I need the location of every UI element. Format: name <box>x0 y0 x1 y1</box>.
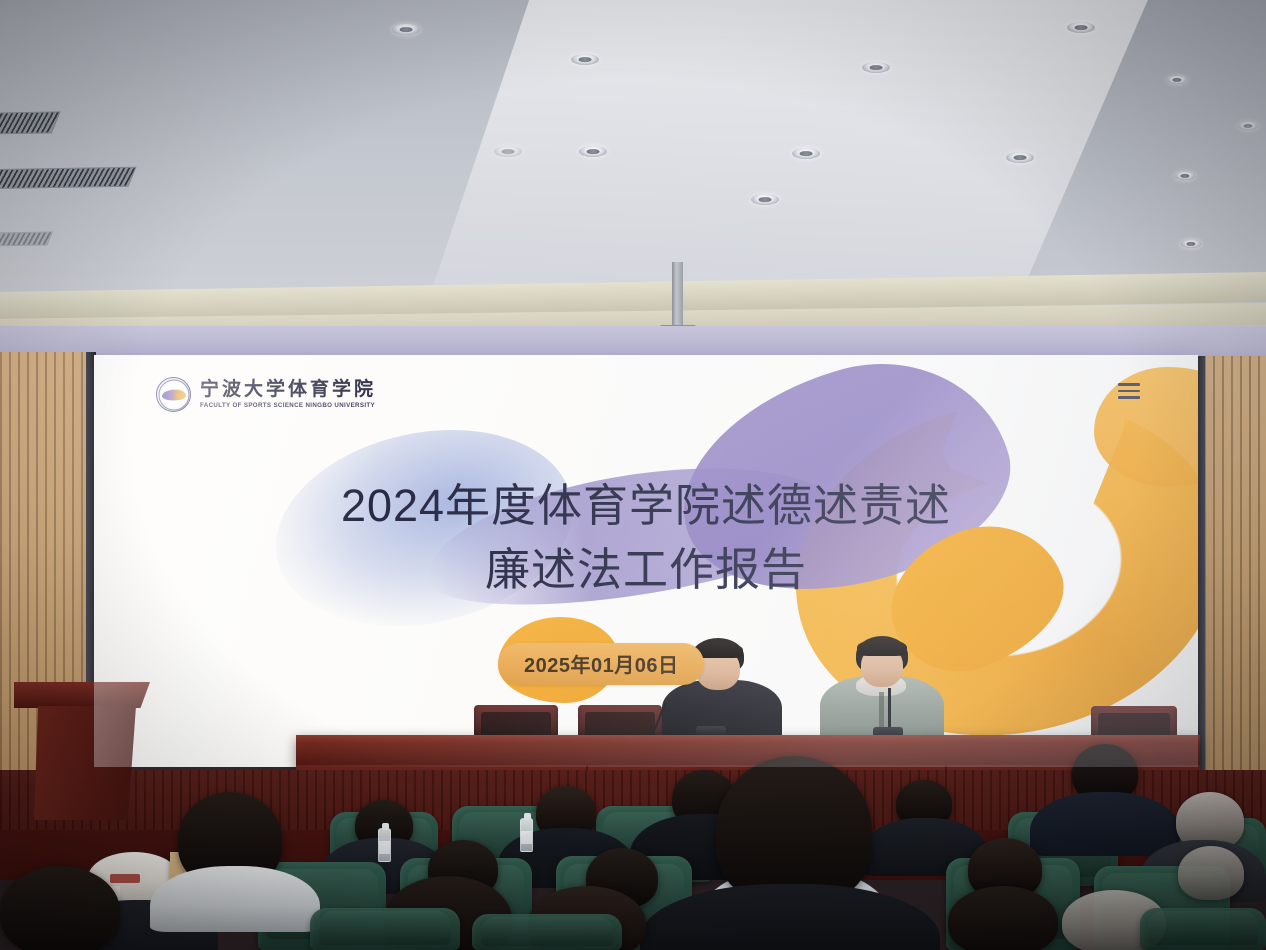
audience-shoulder <box>1030 792 1180 856</box>
slide-title-line1: 2024年度体育学院述德述责述 <box>154 475 1138 537</box>
water-bottle <box>378 828 391 862</box>
slide-title-line2: 廉述法工作报告 <box>154 539 1138 601</box>
cap-logo <box>110 874 140 883</box>
university-seal-icon <box>156 377 191 412</box>
slide-title: 2024年度体育学院述德述责述 廉述法工作报告 <box>94 475 1198 601</box>
logo-name-en: FACULTY OF SPORTS SCIENCE NINGBO UNIVERS… <box>200 402 376 409</box>
water-bottle <box>520 818 533 852</box>
projector-mount-pole <box>672 262 683 330</box>
stage-chair <box>578 705 662 739</box>
logo-name-cn: 宁波大学体育学院 <box>200 380 376 400</box>
conference-hall-scene: 宁波大学体育学院 FACULTY OF SPORTS SCIENCE NINGB… <box>0 0 1266 950</box>
ceiling-downlight <box>792 148 820 159</box>
audience-head-gray <box>1178 846 1244 900</box>
audience-head-foreground <box>0 866 120 950</box>
ceiling-downlight <box>571 54 599 65</box>
ceiling-downlight <box>579 146 607 157</box>
ac-vent <box>0 111 61 134</box>
hamburger-bar <box>1118 383 1140 386</box>
ceiling-downlight <box>862 62 890 73</box>
audience-seat <box>472 914 622 950</box>
ac-vent <box>0 167 137 190</box>
lectern-top <box>14 682 150 708</box>
ceiling-downlight <box>1067 22 1095 33</box>
slide-logo: 宁波大学体育学院 FACULTY OF SPORTS SCIENCE NINGB… <box>156 377 376 412</box>
audience-seat <box>310 908 460 950</box>
audience-head-foreground <box>948 886 1058 950</box>
head-table-top <box>296 735 1200 769</box>
ceiling-downlight <box>392 24 420 35</box>
ceiling-downlight <box>1006 152 1034 163</box>
bottle-label <box>521 831 532 844</box>
bottle-label <box>379 841 390 854</box>
hamburger-menu-icon[interactable] <box>1118 383 1140 399</box>
ceiling-downlight <box>494 146 522 157</box>
hamburger-bar <box>1118 396 1140 399</box>
ceiling-downlight <box>1167 76 1187 84</box>
ceiling <box>0 0 1266 330</box>
ac-vent <box>0 231 53 246</box>
hamburger-bar <box>1118 390 1140 393</box>
ceiling-downlight <box>1175 172 1195 180</box>
lectern-body <box>34 706 136 820</box>
wood-slat-wall-right <box>1204 356 1266 776</box>
ceiling-downlight <box>1181 240 1201 248</box>
ceiling-downlight <box>751 194 779 205</box>
presenter-right-fringe <box>857 639 907 656</box>
ceiling-downlight <box>1238 122 1258 130</box>
slide-date-badge: 2025年01月06日 <box>498 643 704 685</box>
audience-shoulder-foreground <box>150 866 320 932</box>
audience-seat <box>1140 908 1266 950</box>
stage-chair <box>474 705 558 739</box>
